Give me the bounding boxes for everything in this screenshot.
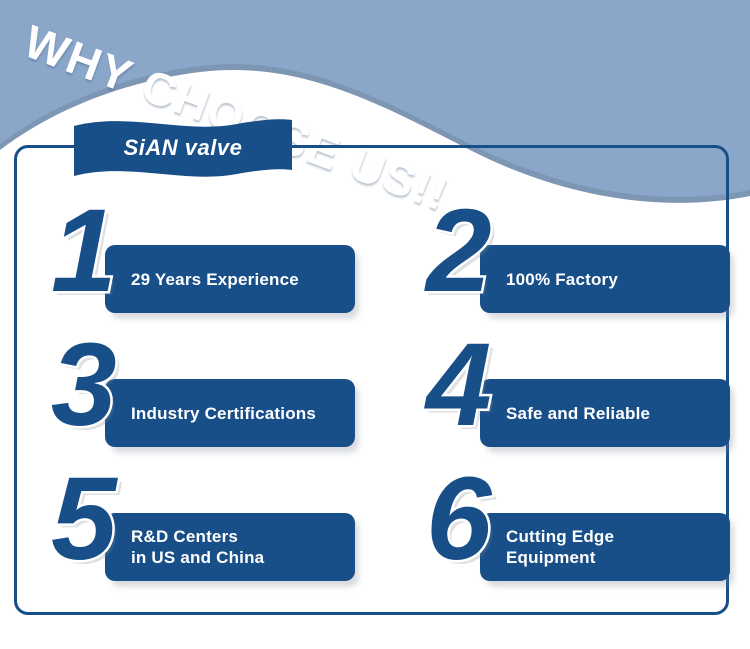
- feature-label-line: Cutting Edge: [506, 526, 730, 547]
- feature-item-1[interactable]: 1 29 Years Experience 1: [45, 185, 375, 319]
- feature-number: 4: [420, 321, 530, 451]
- feature-label-line: Equipment: [506, 547, 730, 568]
- brand-name: SiAN valve: [74, 118, 292, 180]
- feature-row: 5 R&D Centers in US and China 5 6 Cuttin…: [0, 453, 750, 587]
- feature-item-2[interactable]: 2 100% Factory 2: [420, 185, 750, 319]
- feature-label-line: in US and China: [131, 547, 355, 568]
- brand-ribbon: SiAN valve: [74, 118, 292, 180]
- why-choose-us-poster: WHY CHOOSE US!! SiAN valve 1 29 Years Ex…: [0, 0, 750, 649]
- features-grid: 1 29 Years Experience 1 2 100% Factory 2…: [0, 185, 750, 587]
- feature-item-6[interactable]: 6 Cutting Edge Equipment 6: [420, 453, 750, 587]
- feature-row: 1 29 Years Experience 1 2 100% Factory 2: [0, 185, 750, 319]
- feature-number: 5: [45, 455, 155, 585]
- feature-item-5[interactable]: 5 R&D Centers in US and China 5: [45, 453, 375, 587]
- feature-number: 6: [420, 455, 530, 585]
- feature-number: 2: [420, 187, 530, 317]
- feature-label-line: 100% Factory: [506, 269, 730, 290]
- feature-item-3[interactable]: 3 Industry Certifications 3: [45, 319, 375, 453]
- feature-label-line: Industry Certifications: [131, 403, 355, 424]
- feature-number: 1: [45, 187, 155, 317]
- feature-label-line: R&D Centers: [131, 526, 355, 547]
- feature-number: 3: [45, 321, 155, 451]
- feature-label-line: Safe and Reliable: [506, 403, 730, 424]
- feature-item-4[interactable]: 4 Safe and Reliable 4: [420, 319, 750, 453]
- feature-label-line: 29 Years Experience: [131, 269, 355, 290]
- feature-row: 3 Industry Certifications 3 4 Safe and R…: [0, 319, 750, 453]
